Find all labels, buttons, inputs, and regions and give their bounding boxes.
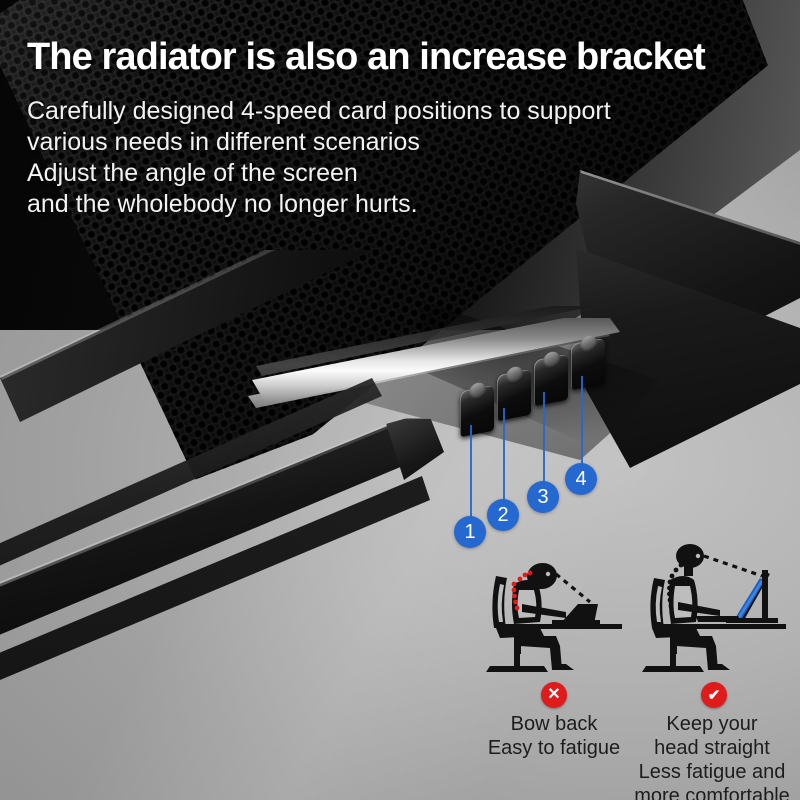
callout-leader-line-2 xyxy=(503,408,505,500)
callout-number-2: 2 xyxy=(497,505,508,525)
callout-bubble-4[interactable]: 4 xyxy=(565,463,597,495)
bad-posture-caption: Bow back Easy to fatigue xyxy=(466,712,642,760)
good-caption-line-2: head straight xyxy=(624,736,800,760)
callout-leader-line-4 xyxy=(581,376,583,464)
body-line-2: various needs in different scenarios xyxy=(27,127,747,158)
body-line-4: and the wholebody no longer hurts. xyxy=(27,189,747,220)
bad-caption-line-1: Bow back xyxy=(466,712,642,736)
body-line-1: Carefully designed 4-speed card position… xyxy=(27,96,747,127)
check-icon: ✔ xyxy=(708,688,721,703)
callout-number-4: 4 xyxy=(575,469,586,489)
hinge-notch-1 xyxy=(460,385,494,438)
bad-caption-line-2: Easy to fatigue xyxy=(466,736,642,760)
product-marketing-image: 1 2 3 4 The radiator is also an increase… xyxy=(0,0,800,800)
callout-number-3: 3 xyxy=(537,487,548,507)
good-posture-illustration xyxy=(634,532,794,682)
good-posture-check-badge: ✔ xyxy=(701,682,727,708)
bad-posture-illustration xyxy=(474,532,634,682)
callout-bubble-2[interactable]: 2 xyxy=(487,499,519,531)
page-title: The radiator is also an increase bracket xyxy=(27,38,787,78)
x-icon: ✕ xyxy=(547,687,560,703)
hinge-notch-4 xyxy=(571,338,605,391)
body-copy: Carefully designed 4-speed card position… xyxy=(27,96,747,220)
good-caption-line-1: Keep your xyxy=(624,712,800,736)
good-posture-caption: Keep your head straight Less fatigue and… xyxy=(624,712,800,800)
good-caption-line-3: Less fatigue and xyxy=(624,760,800,784)
callout-leader-line-1 xyxy=(470,425,472,517)
hinge-notch-3 xyxy=(534,354,568,407)
bad-posture-x-badge: ✕ xyxy=(541,682,567,708)
good-caption-line-4: more comfortable xyxy=(624,784,800,800)
callout-leader-line-3 xyxy=(543,392,545,482)
body-line-3: Adjust the angle of the screen xyxy=(27,158,747,189)
posture-comparison: ✕ ✔ Bow back Easy to fatigue Keep your h… xyxy=(462,532,800,800)
callout-bubble-3[interactable]: 3 xyxy=(527,481,559,513)
